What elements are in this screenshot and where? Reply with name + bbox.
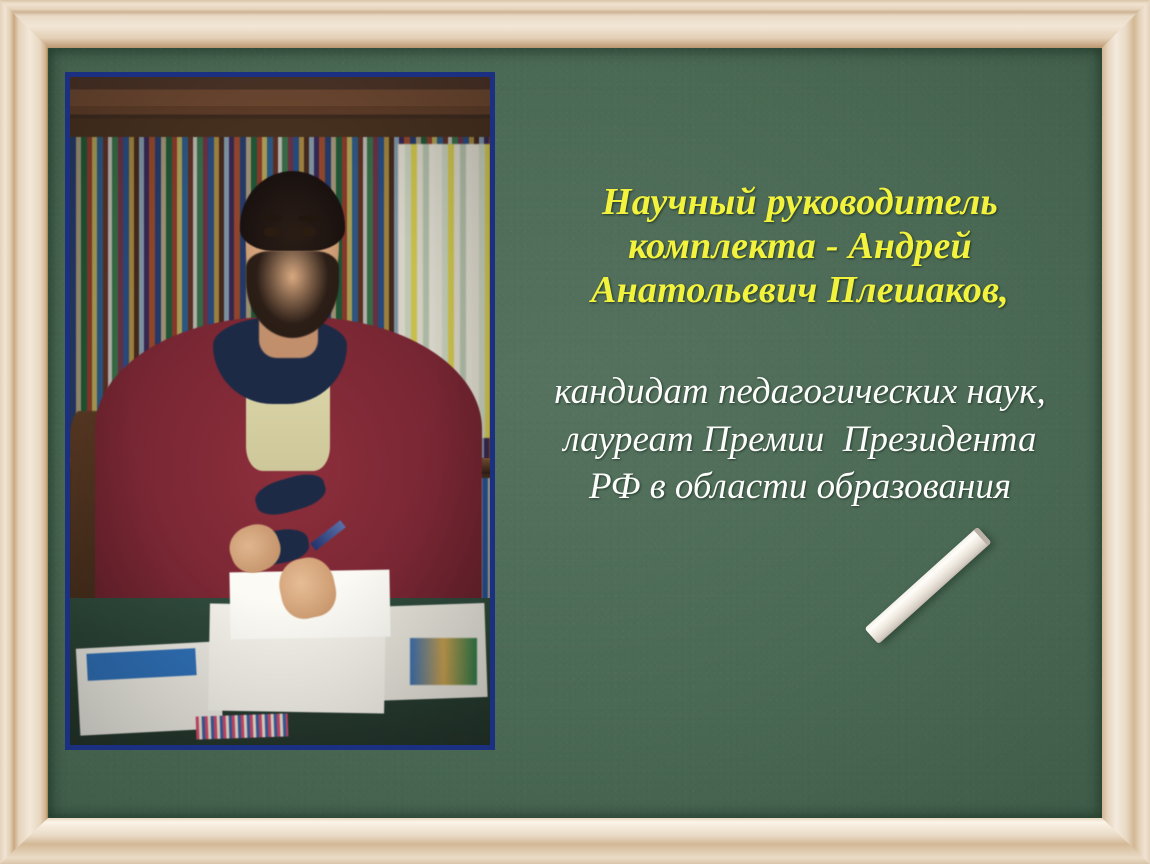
body-line-2: лауреат Премии Президента — [505, 416, 1095, 463]
portrait-photo — [65, 72, 495, 750]
frame-rail-bottom — [0, 818, 1150, 864]
body-text: кандидат педагогических наук, лауреат Пр… — [505, 368, 1095, 510]
headline-line-2: комплекта - Андрей — [505, 224, 1095, 268]
frame-rail-top — [0, 0, 1150, 48]
frame-rail-left — [0, 0, 48, 864]
headline: Научный руководитель комплекта - Андрей … — [505, 180, 1095, 312]
text-block: Научный руководитель комплекта - Андрей … — [505, 180, 1095, 510]
body-line-3: РФ в области образования — [505, 463, 1095, 510]
headline-line-3: Анатольевич Плешаков, — [505, 268, 1095, 312]
headline-line-1: Научный руководитель — [505, 180, 1095, 224]
frame-rail-right — [1102, 0, 1150, 864]
slide-root: Научный руководитель комплекта - Андрей … — [0, 0, 1150, 864]
photo-vignette — [70, 77, 490, 745]
body-line-1: кандидат педагогических наук, — [505, 368, 1095, 415]
portrait-photo-content — [70, 77, 490, 745]
